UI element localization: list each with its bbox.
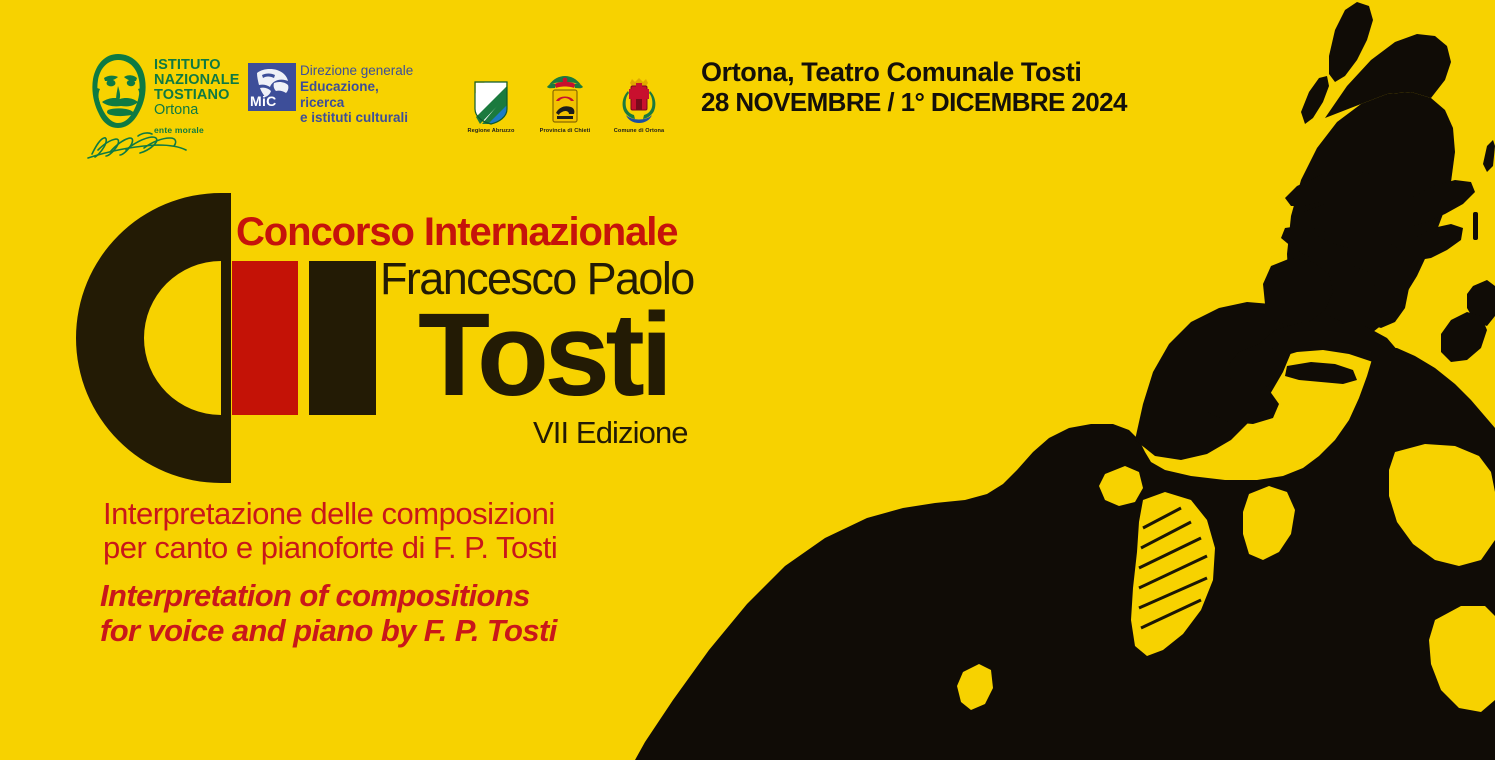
ministry-line-3: e istituti culturali bbox=[300, 110, 423, 126]
civic-caption-abruzzo: Regione Abruzzo bbox=[465, 128, 517, 134]
istituto-nazionale-tostiano-logo: ISTITUTO NAZIONALE TOSTIANO Ortona ente … bbox=[88, 52, 248, 162]
description-english: Interpretation of compositions for voice… bbox=[100, 578, 557, 648]
institute-name: ISTITUTO NAZIONALE TOSTIANO Ortona bbox=[154, 58, 239, 118]
civic-logos: Regione Abruzzo bbox=[465, 62, 665, 134]
civic-caption-ortona: Comune di Ortona bbox=[613, 128, 665, 134]
title-edition: VII Edizione bbox=[533, 417, 688, 448]
ministry-culture-logo: MiC Direzione generale Educazione, ricer… bbox=[248, 63, 423, 121]
event-venue: Ortona, Teatro Comunale Tosti bbox=[701, 57, 1221, 87]
description-english-line-1: Interpretation of compositions bbox=[100, 578, 557, 613]
institute-line-1: ISTITUTO bbox=[154, 58, 239, 73]
civic-logo-provincia-chieti: Provincia di Chieti bbox=[539, 73, 591, 134]
ortona-crest-icon bbox=[613, 73, 665, 125]
event-dates: 28 NOVEMBRE / 1° DICEMBRE 2024 bbox=[701, 88, 1221, 117]
sponsor-logo-bar: ISTITUTO NAZIONALE TOSTIANO Ortona ente … bbox=[0, 0, 700, 165]
institute-line-2: NAZIONALE bbox=[154, 73, 239, 88]
civic-logo-regione-abruzzo: Regione Abruzzo bbox=[465, 73, 517, 134]
civic-logo-comune-ortona: Comune di Ortona bbox=[613, 73, 665, 134]
description-italian-line-2: per canto e pianoforte di F. P. Tosti bbox=[103, 531, 557, 565]
tosti-signature-icon bbox=[86, 130, 191, 162]
tosti-head-icon bbox=[88, 52, 150, 130]
mic-label: MiC bbox=[250, 93, 277, 109]
institute-line-4: Ortona bbox=[154, 103, 239, 118]
description-english-line-2: for voice and piano by F. P. Tosti bbox=[100, 613, 557, 648]
title-eyebrow: Concorso Internazionale bbox=[236, 212, 677, 252]
title-composer-last: Tosti bbox=[418, 296, 669, 414]
poster-canvas: ISTITUTO NAZIONALE TOSTIANO Ortona ente … bbox=[0, 0, 1495, 760]
description-italian-line-1: Interpretazione delle composizioni bbox=[103, 497, 557, 531]
abruzzo-shield-icon bbox=[465, 73, 517, 125]
civic-caption-chieti: Provincia di Chieti bbox=[539, 128, 591, 134]
ministry-line-1: Direzione generale bbox=[300, 63, 423, 79]
ministry-line-2: Educazione, ricerca bbox=[300, 79, 423, 111]
mic-mark-icon: MiC bbox=[248, 63, 296, 111]
institute-line-3: TOSTIANO bbox=[154, 88, 239, 103]
event-header: Ortona, Teatro Comunale Tosti 28 NOVEMBR… bbox=[701, 57, 1221, 117]
chieti-crest-icon bbox=[539, 73, 591, 125]
ministry-text: Direzione generale Educazione, ricerca e… bbox=[300, 63, 423, 126]
description-italian: Interpretazione delle composizioni per c… bbox=[103, 497, 557, 565]
